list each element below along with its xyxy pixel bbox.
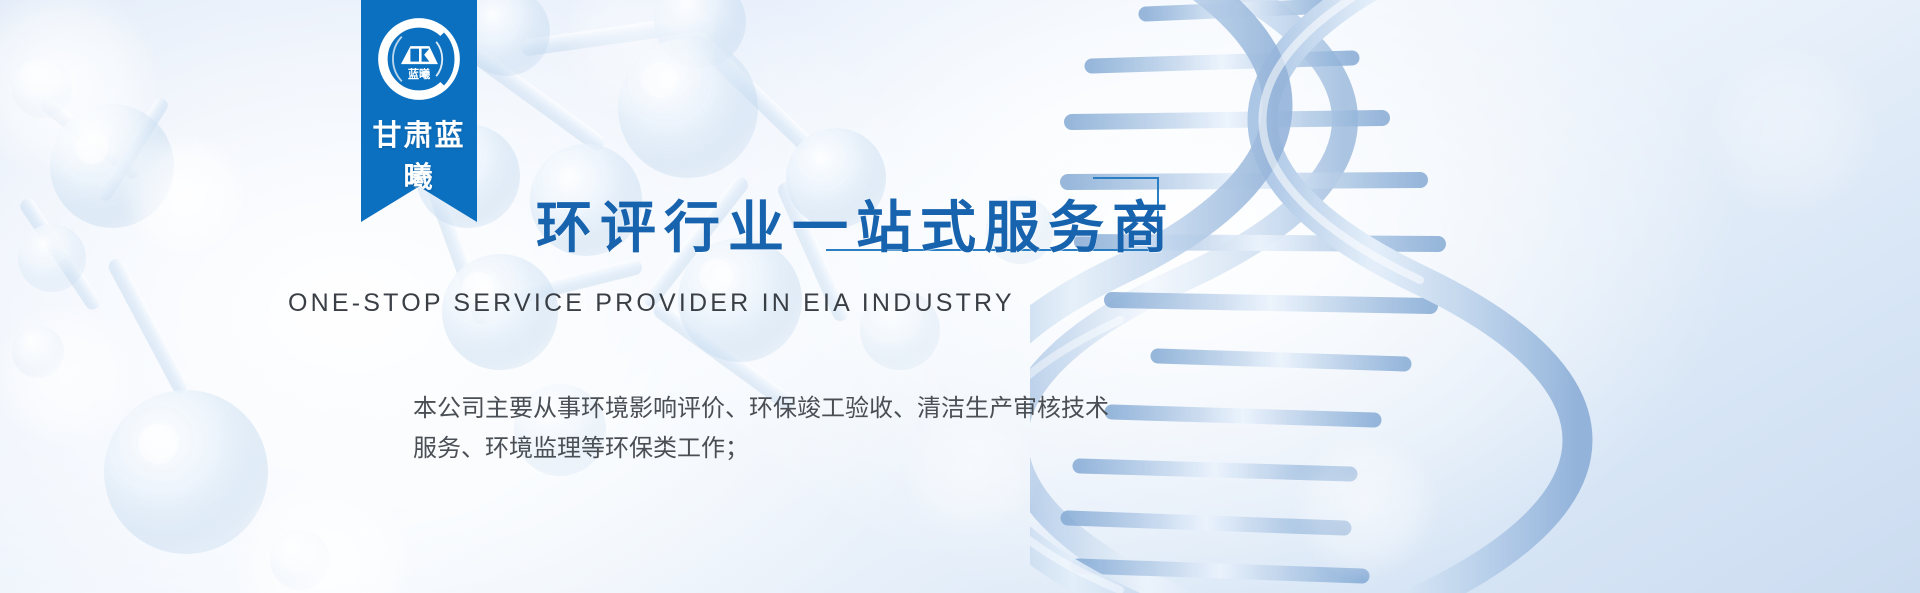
company-name: 甘肃蓝曦 xyxy=(361,112,477,196)
hero-banner: 蓝曦 甘肃蓝曦 环评行业一站式服务商 ONE-STOP SERVICE PROV… xyxy=(0,0,1920,593)
bokeh-light-icon xyxy=(120,130,250,260)
description-line-1: 本公司主要从事环境影响评价、环保竣工验收、清洁生产审核技术 xyxy=(413,389,1213,429)
connector-line-top xyxy=(1093,177,1159,179)
lanxi-circle-logo-icon: 蓝曦 xyxy=(376,16,462,102)
headline-subtitle-english: ONE-STOP SERVICE PROVIDER IN EIA INDUSTR… xyxy=(288,289,1015,318)
bokeh-light-icon xyxy=(0,300,140,450)
bokeh-light-icon xyxy=(560,0,720,120)
logo-mark-text: 蓝曦 xyxy=(408,67,431,81)
bokeh-light-icon xyxy=(1290,430,1440,580)
bokeh-light-icon xyxy=(230,470,420,593)
headline-title: 环评行业一站式服务商 xyxy=(536,183,1176,264)
company-ribbon-badge: 蓝曦 甘肃蓝曦 xyxy=(361,0,477,222)
bokeh-light-icon xyxy=(0,0,160,180)
bokeh-light-icon xyxy=(1700,40,1880,220)
description-paragraph: 本公司主要从事环境影响评价、环保竣工验收、清洁生产审核技术 服务、环境监理等环保… xyxy=(413,389,1213,469)
description-line-2: 服务、环境监理等环保类工作； xyxy=(413,429,1213,469)
